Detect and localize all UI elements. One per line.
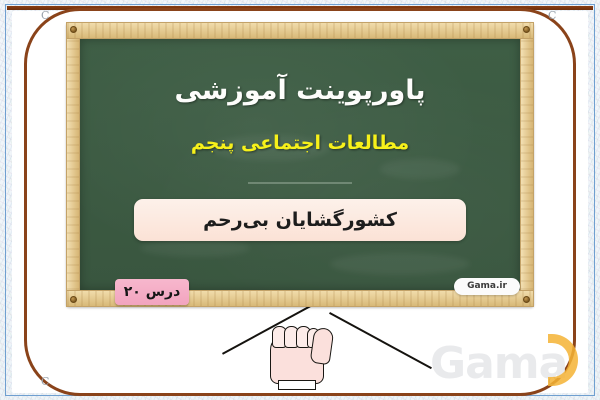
corner-c-icon-bottom-right: C	[548, 376, 556, 387]
lesson-number-text: درس ۲۰	[115, 279, 189, 305]
presentation-title: پاورپوینت آموزشی	[80, 75, 520, 106]
screw-icon-bottom-right	[523, 296, 530, 303]
board-frame-left	[66, 22, 80, 307]
corner-c-icon-top-left: C	[41, 10, 49, 21]
hand-fist-icon	[262, 310, 338, 392]
title-divider	[248, 182, 352, 184]
brand-pill-text: Gama.ir	[454, 278, 520, 295]
brand-pill[interactable]: Gama.ir	[454, 278, 520, 295]
blackboard: پاورپوینت آموزشی مطالعات اجتماعی پنجم کش…	[66, 22, 534, 307]
hand-thumb	[310, 327, 335, 365]
chalk-smudge	[330, 253, 470, 275]
chalk-smudge	[140, 239, 250, 257]
subject-title: مطالعات اجتماعی پنجم	[80, 132, 520, 154]
screw-icon-top-left	[70, 26, 77, 33]
board-frame-right	[520, 22, 534, 307]
blackboard-surface: پاورپوینت آموزشی مطالعات اجتماعی پنجم کش…	[80, 39, 520, 290]
chalk-smudge	[380, 159, 460, 179]
slide-canvas: C C C C Gama پاورپوینت آموزشی مطالعات اج…	[0, 0, 600, 400]
lesson-number-badge: درس ۲۰	[115, 279, 189, 305]
board-frame-top	[66, 22, 534, 39]
screw-icon-bottom-left	[70, 296, 77, 303]
corner-c-icon-bottom-left: C	[41, 376, 49, 387]
lesson-title-text: کشورگشایان بی‌رحم	[134, 199, 466, 241]
corner-c-icon-top-right: C	[548, 10, 556, 21]
screw-icon-top-right	[523, 26, 530, 33]
lesson-title-box: کشورگشایان بی‌رحم	[134, 199, 466, 241]
hand-wrist	[278, 380, 316, 390]
